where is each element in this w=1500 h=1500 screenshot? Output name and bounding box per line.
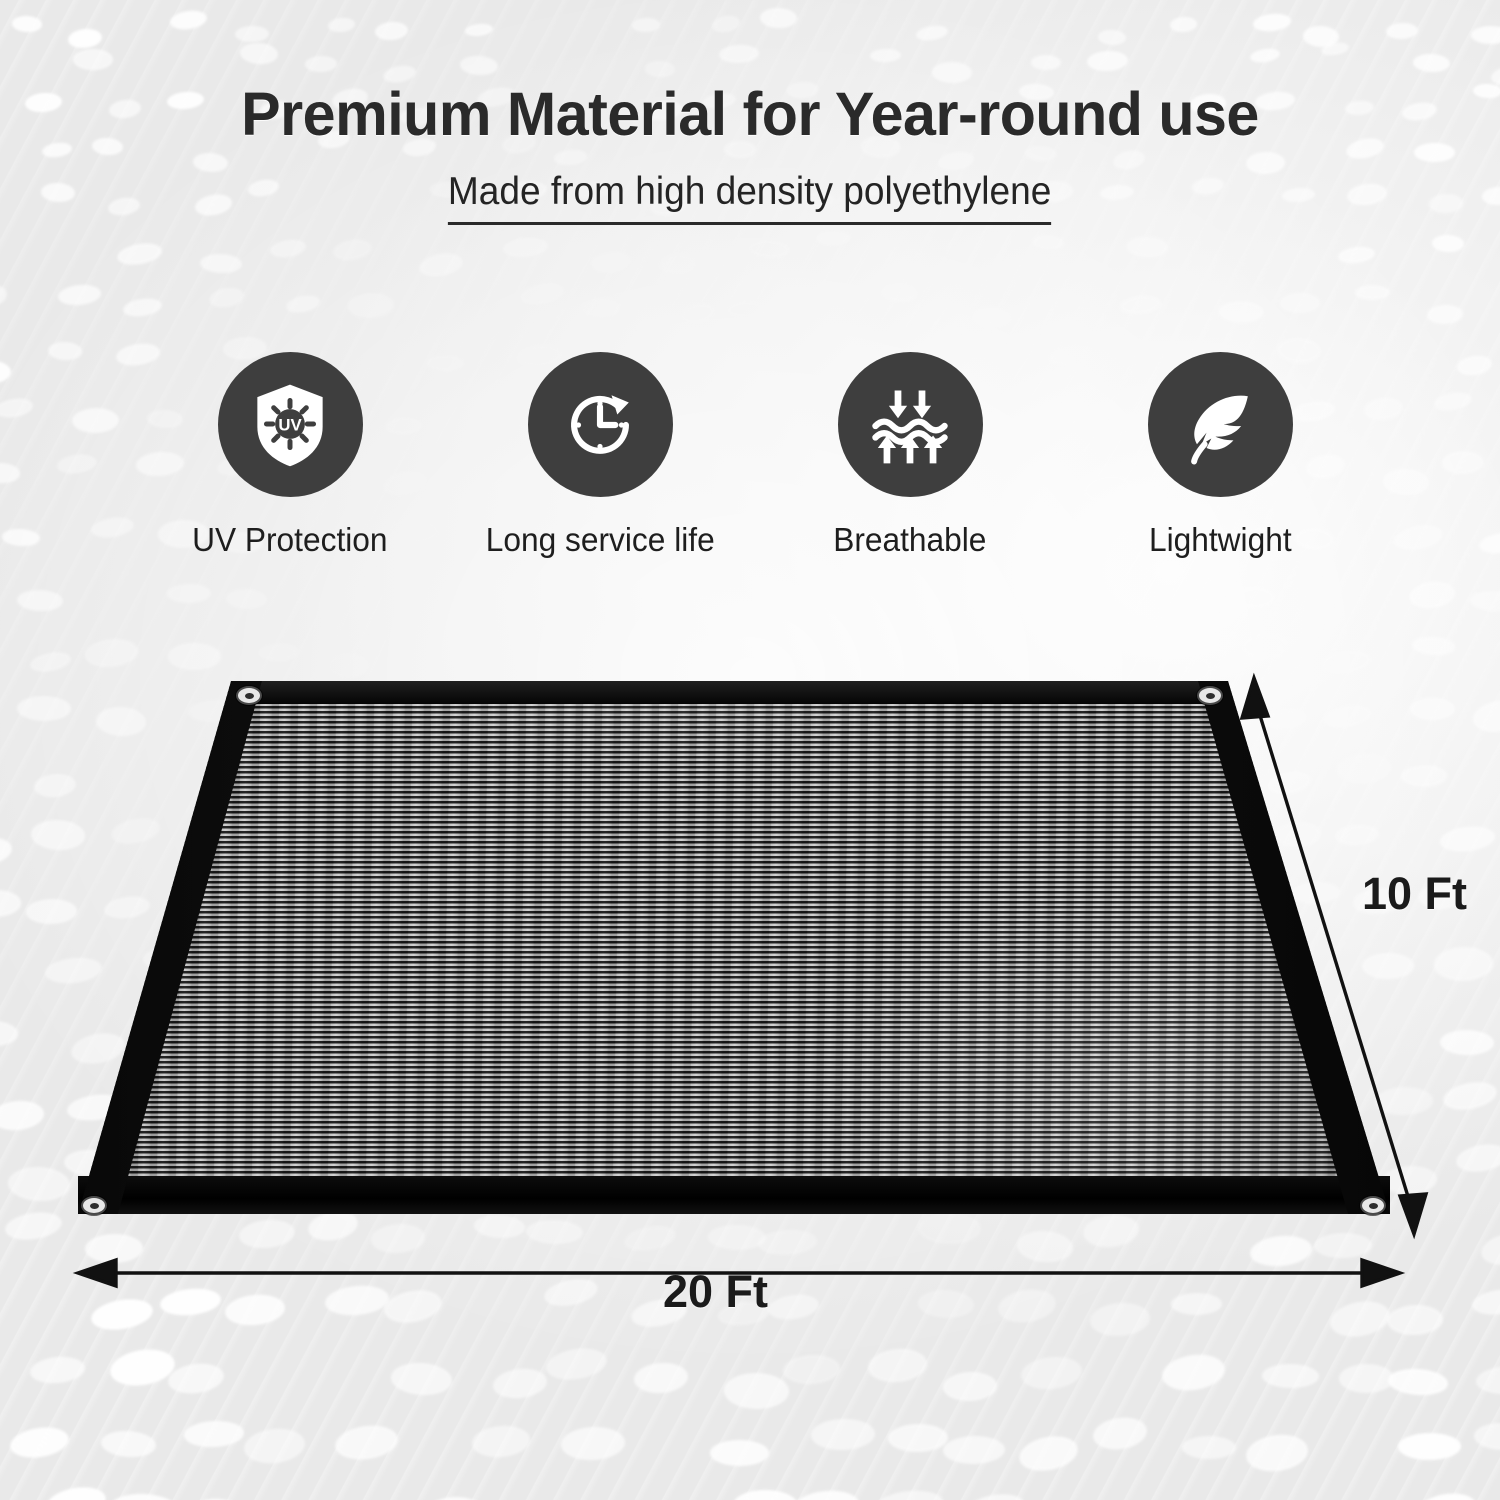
dimension-annotations: 10 Ft 20 Ft <box>0 0 1500 1500</box>
dimension-label-width: 20 Ft <box>663 1266 768 1318</box>
product-infographic: Premium Material for Year-round use Made… <box>0 0 1500 1500</box>
dimension-label-height: 10 Ft <box>1362 868 1467 920</box>
